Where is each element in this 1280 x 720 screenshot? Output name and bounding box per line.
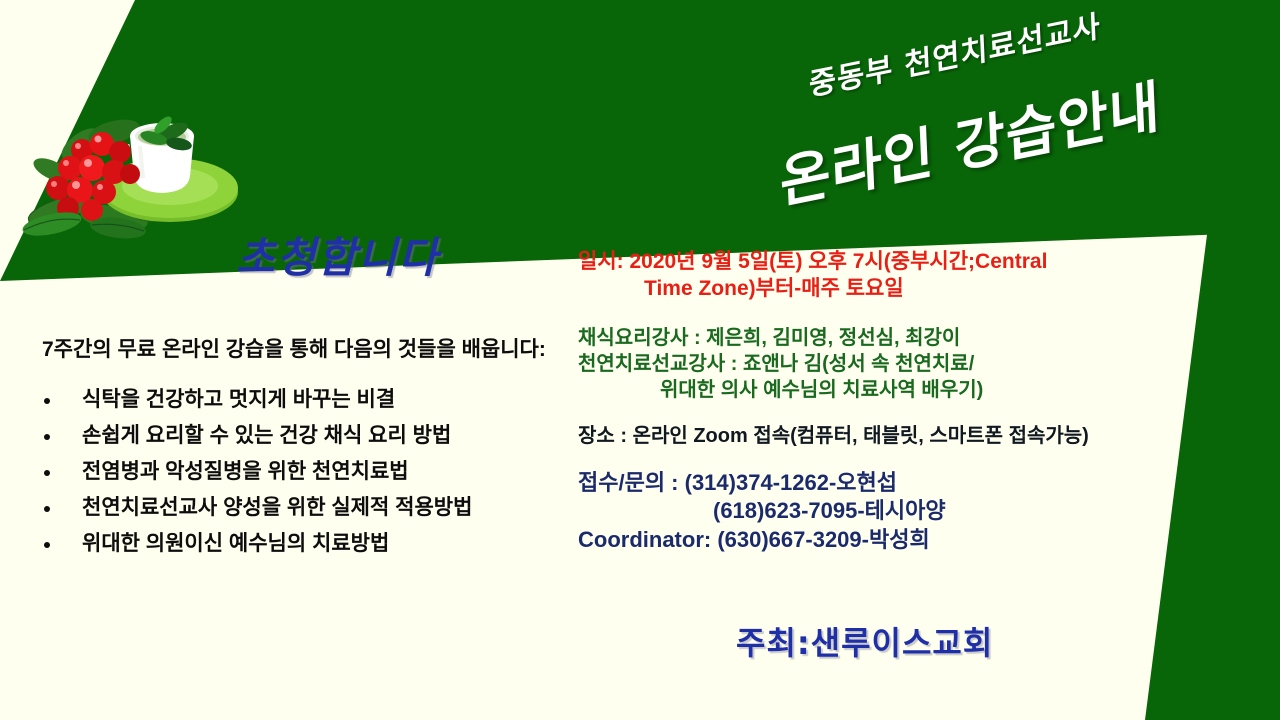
event-details-column: 일시: 2020년 9월 5일(토) 오후 7시(중부시간;Central Ti… xyxy=(578,248,1238,570)
event-datetime-line-1: 일시: 2020년 9월 5일(토) 오후 7시(중부시간;Central xyxy=(578,248,1238,275)
course-intro-text: 7주간의 무료 온라인 강습을 통해 다음의 것들을 배웁니다: xyxy=(42,336,572,365)
event-datetime-block: 일시: 2020년 9월 5일(토) 오후 7시(중부시간;Central Ti… xyxy=(578,248,1238,303)
therapy-instructor-line: 천연치료선교강사 : 죠앤나 김(성서 속 천연치료/ xyxy=(578,351,1238,377)
instructors-block: 채식요리강사 : 제은희, 김미영, 정선심, 최강이 천연치료선교강사 : 죠… xyxy=(578,325,1238,403)
contact-coordinator-line[interactable]: Coordinator: (630)667-3209-박성희 xyxy=(578,526,1238,555)
event-datetime-line-2: Time Zone)부터-매주 토요일 xyxy=(578,275,1238,302)
contact-line-1[interactable]: 접수/문의 : (314)374-1262-오현섭 xyxy=(578,469,1238,498)
benefit-label: 손쉽게 요리할 수 있는 건강 채식 요리 방법 xyxy=(82,424,451,447)
bullet-dot-icon xyxy=(44,470,50,476)
benefit-label: 식탁을 건강하고 멋지게 바꾸는 비결 xyxy=(82,388,395,411)
host-organization-label: 주최:샌루이스교회 xyxy=(736,618,993,664)
contact-block: 접수/문의 : (314)374-1262-오현섭 (618)623-7095-… xyxy=(578,469,1238,555)
poster-canvas: 중동부 천연치료선교사 온라인 강습안내 xyxy=(0,0,1280,720)
benefit-label: 천연치료선교사 양성을 위한 실제적 적용방법 xyxy=(82,496,472,519)
benefit-label: 위대한 의원이신 예수님의 치료방법 xyxy=(82,532,389,555)
bullet-dot-icon xyxy=(44,542,50,548)
cooking-instructors-line: 채식요리강사 : 제은희, 김미영, 정선심, 최강이 xyxy=(578,325,1238,351)
bullet-dot-icon xyxy=(44,434,50,440)
course-benefit-list: 식탁을 건강하고 멋지게 바꾸는 비결 손쉽게 요리할 수 있는 건강 채식 요… xyxy=(42,389,572,554)
list-item: 위대한 의원이신 예수님의 치료방법 xyxy=(42,533,572,554)
list-item: 천연치료선교사 양성을 위한 실제적 적용방법 xyxy=(42,497,572,518)
list-item: 손쉽게 요리할 수 있는 건강 채식 요리 방법 xyxy=(42,425,572,446)
bullet-dot-icon xyxy=(44,398,50,404)
therapy-instructor-line-continued: 위대한 의사 예수님의 치료사역 배우기) xyxy=(578,377,1238,403)
event-location-line: 장소 : 온라인 Zoom 접속(컴퓨터, 태블릿, 스마트폰 접속가능) xyxy=(578,423,1238,449)
invitation-headline: 초청합니다 xyxy=(236,224,439,285)
herbal-tea-cup-image xyxy=(22,92,247,247)
benefit-label: 전염병과 악성질병을 위한 천연치료법 xyxy=(82,460,409,483)
bullet-dot-icon xyxy=(44,506,50,512)
list-item: 식탁을 건강하고 멋지게 바꾸는 비결 xyxy=(42,389,572,410)
course-benefits-column: 7주간의 무료 온라인 강습을 통해 다음의 것들을 배웁니다: 식탁을 건강하… xyxy=(42,336,572,569)
event-location-block: 장소 : 온라인 Zoom 접속(컴퓨터, 태블릿, 스마트폰 접속가능) xyxy=(578,423,1238,449)
contact-line-2[interactable]: (618)623-7095-테시아양 xyxy=(578,497,1238,526)
list-item: 전염병과 악성질병을 위한 천연치료법 xyxy=(42,461,572,482)
